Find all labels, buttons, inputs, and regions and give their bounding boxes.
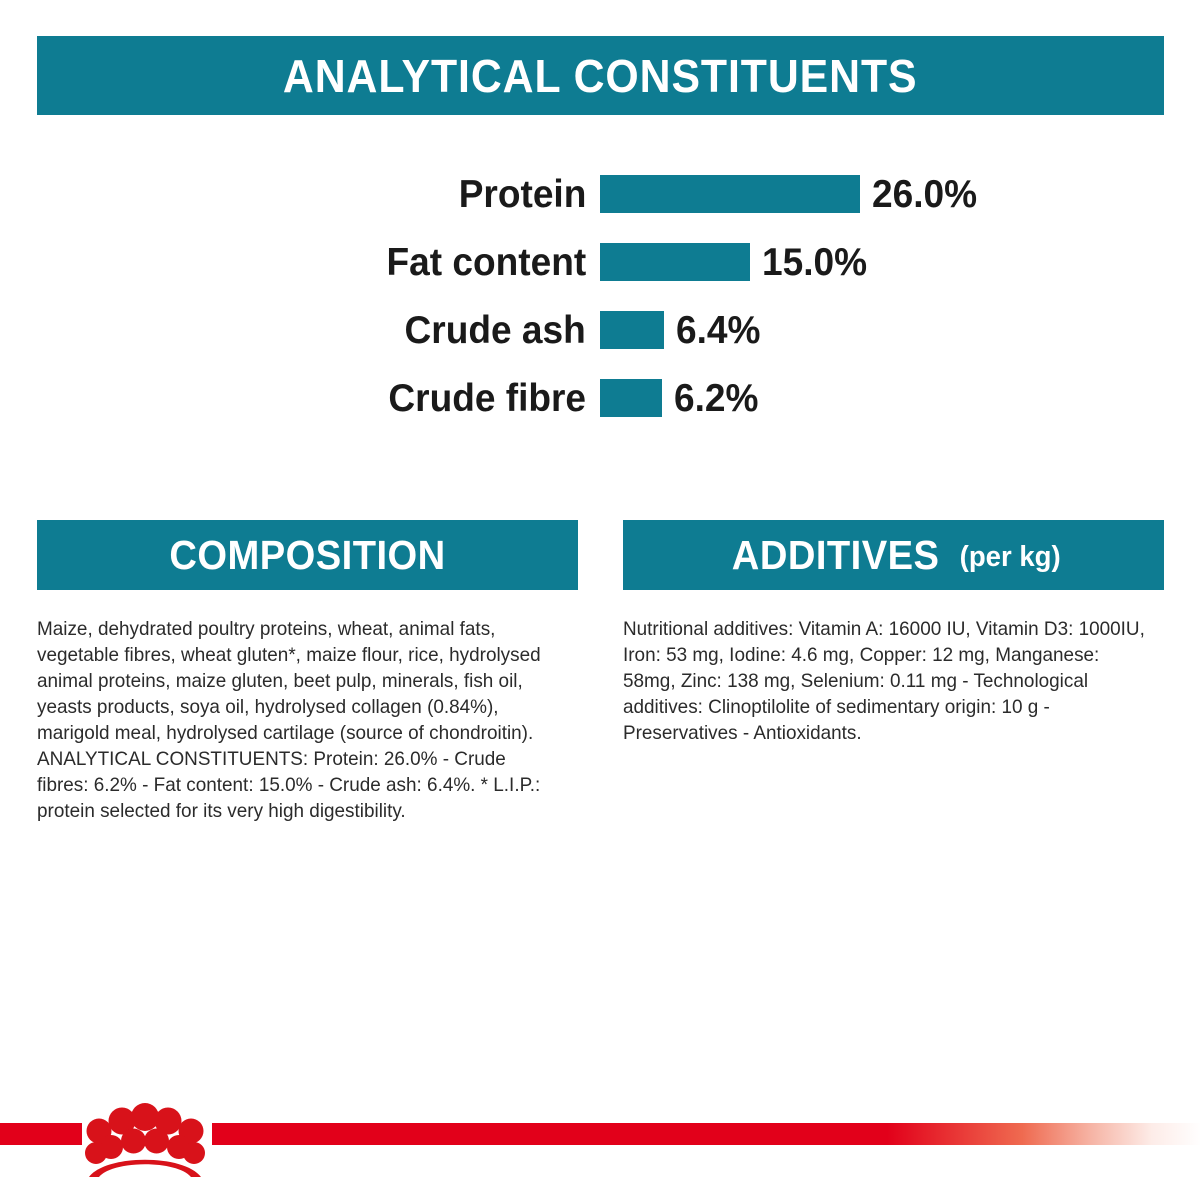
- chart-category-label: Fat content: [386, 243, 586, 282]
- composition-header: COMPOSITION: [37, 520, 578, 590]
- additives-panel: ADDITIVES (per kg) Nutritional additives…: [623, 520, 1164, 746]
- composition-panel: COMPOSITION Maize, dehydrated poultry pr…: [37, 520, 578, 824]
- footer-rule-right: [212, 1123, 1200, 1145]
- chart-category-label: Protein: [458, 175, 586, 214]
- chart-value-label: 6.4%: [676, 311, 760, 350]
- brand-footer: [0, 1090, 1200, 1200]
- chart-bar: [600, 379, 662, 417]
- chart-bar: [600, 311, 664, 349]
- additives-heading: ADDITIVES: [732, 535, 940, 576]
- chart-category-label: Crude ash: [405, 311, 586, 350]
- chart-row: Protein 26.0%: [0, 160, 1200, 228]
- additives-header: ADDITIVES (per kg): [623, 520, 1164, 590]
- chart-value-label: 15.0%: [762, 243, 867, 282]
- additives-body-text: Nutritional additives: Vitamin A: 16000 …: [623, 616, 1148, 746]
- composition-body-text: Maize, dehydrated poultry proteins, whea…: [37, 616, 562, 824]
- crown-icon: [78, 1098, 212, 1180]
- chart-category-label: Crude fibre: [388, 379, 586, 418]
- footer-rule-left: [0, 1123, 82, 1145]
- chart-bar: [600, 175, 860, 213]
- chart-bar: [600, 243, 750, 281]
- analytical-constituents-chart: Protein 26.0% Fat content 15.0% Crude as…: [0, 160, 1200, 432]
- chart-row: Crude fibre 6.2%: [0, 364, 1200, 432]
- product-info-panel: ANALYTICAL CONSTITUENTS Protein 26.0% Fa…: [0, 0, 1200, 1200]
- chart-row: Crude ash 6.4%: [0, 296, 1200, 364]
- chart-row: Fat content 15.0%: [0, 228, 1200, 296]
- page-title: ANALYTICAL CONSTITUENTS: [283, 53, 918, 99]
- chart-value-label: 6.2%: [674, 379, 758, 418]
- additives-heading-unit: (per kg): [960, 543, 1061, 572]
- chart-value-label: 26.0%: [872, 175, 977, 214]
- analytical-constituents-header: ANALYTICAL CONSTITUENTS: [37, 36, 1164, 115]
- composition-heading: COMPOSITION: [169, 535, 445, 576]
